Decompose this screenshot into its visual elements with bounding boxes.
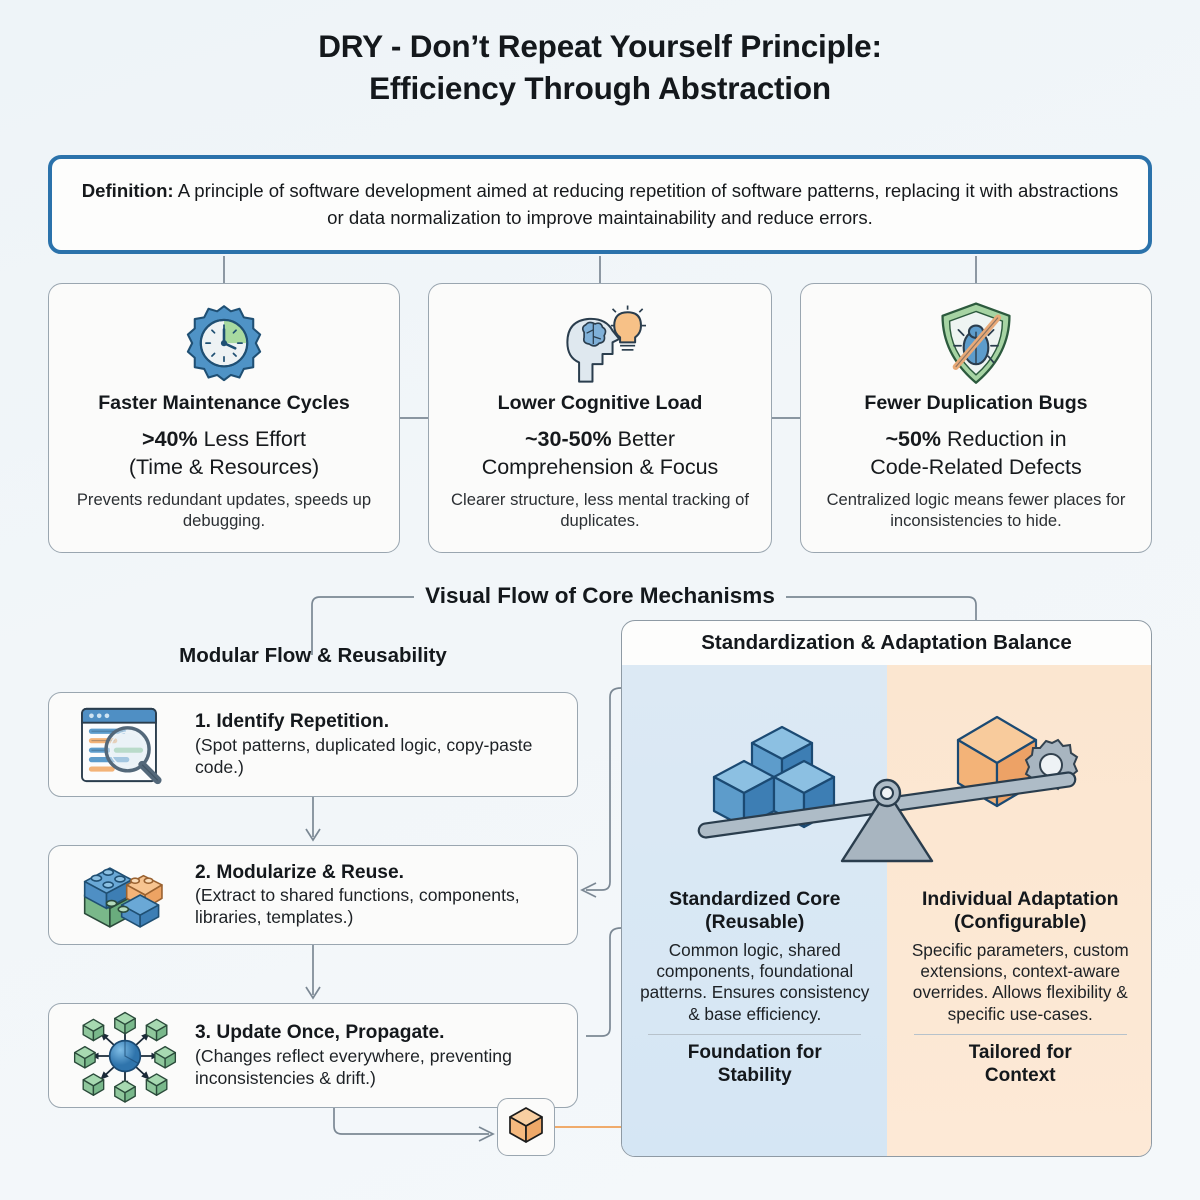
- definition-label: Definition:: [82, 180, 174, 201]
- flow-step-identify-repetition: 1. Identify Repetition. (Spot patterns, …: [48, 692, 578, 797]
- seesaw-balance-icon: [622, 665, 1152, 880]
- definition-text: Definition: A principle of software deve…: [78, 178, 1122, 232]
- flow-step-title: 2. Modularize & Reuse.: [195, 861, 565, 884]
- balance-left-footer: Foundation for Stability: [688, 1042, 822, 1088]
- benefit-stat-value: ~50%: [885, 427, 941, 451]
- benefit-card-heading: Faster Maintenance Cycles: [98, 392, 350, 415]
- balance-left-divider: [648, 1034, 861, 1035]
- benefit-card-desc: Centralized logic means fewer places for…: [815, 489, 1137, 531]
- flow-step-title: 1. Identify Repetition.: [195, 710, 565, 733]
- definition-box: Definition: A principle of software deve…: [48, 155, 1152, 254]
- gear-clock-icon: [181, 300, 267, 388]
- infographic-canvas: DRY - Don’t Repeat Yourself Principle: E…: [0, 0, 1200, 1200]
- benefit-card-fewer-bugs: Fewer Duplication Bugs ~50% Reduction in…: [800, 283, 1152, 553]
- benefit-card-stat: ~30-50% Better Comprehension & Focus: [482, 426, 719, 481]
- lego-bricks-icon: [61, 853, 189, 937]
- benefit-card-desc: Clearer structure, less mental tracking …: [443, 489, 757, 531]
- benefit-card-faster-maintenance: Faster Maintenance Cycles >40% Less Effo…: [48, 283, 400, 553]
- page-title-line-2: Efficiency Through Abstraction: [0, 68, 1200, 110]
- benefit-stat-value: >40%: [142, 427, 198, 451]
- shield-bug-icon: [936, 300, 1016, 388]
- balance-left-body: Common logic, shared components, foundat…: [634, 940, 876, 1025]
- balance-right-body: Specific parameters, custom extensions, …: [900, 940, 1142, 1025]
- brain-lightbulb-icon: [554, 300, 646, 388]
- benefit-stat-rest: Less Effort: [198, 427, 306, 451]
- balance-right-footer-line1: Tailored for: [969, 1042, 1072, 1063]
- flow-step-title: 3. Update Once, Propagate.: [195, 1021, 565, 1044]
- flow-step-desc: (Extract to shared functions, components…: [195, 885, 565, 929]
- balance-right-heading-line1: Individual Adaptation: [922, 888, 1118, 910]
- balance-right-footer-line2: Context: [985, 1065, 1056, 1086]
- hub-propagate-icon: [61, 1006, 189, 1106]
- benefit-stat-line2: Code-Related Defects: [870, 455, 1082, 479]
- orange-cube-node: [497, 1098, 555, 1156]
- balance-panel-title: Standardization & Adaptation Balance: [622, 621, 1151, 665]
- balance-column-individual-adaptation: Individual Adaptation (Configurable) Spe…: [888, 880, 1153, 1156]
- benefit-card-heading: Fewer Duplication Bugs: [864, 392, 1087, 415]
- flow-step-text: 3. Update Once, Propagate. (Changes refl…: [195, 1021, 565, 1089]
- definition-body: A principle of software development aime…: [174, 180, 1119, 228]
- balance-right-heading-line2: (Configurable): [954, 911, 1087, 933]
- page-title: DRY - Don’t Repeat Yourself Principle: E…: [0, 26, 1200, 110]
- balance-column-standardized-core: Standardized Core (Reusable) Common logi…: [622, 880, 888, 1156]
- benefit-card-desc: Prevents redundant updates, speeds up de…: [63, 489, 385, 531]
- flow-step-modularize-reuse: 2. Modularize & Reuse. (Extract to share…: [48, 845, 578, 945]
- benefit-stat-line2: Comprehension & Focus: [482, 455, 719, 479]
- balance-right-footer: Tailored for Context: [969, 1042, 1072, 1088]
- orange-cube-icon: [506, 1105, 546, 1150]
- section-heading: Visual Flow of Core Mechanisms: [0, 583, 1200, 609]
- benefit-stat-line2: (Time & Resources): [129, 455, 319, 479]
- balance-left-heading-line2: (Reusable): [705, 911, 804, 933]
- benefit-card-heading: Lower Cognitive Load: [498, 392, 703, 415]
- flow-step-desc: (Changes reflect everywhere, preventing …: [195, 1046, 565, 1090]
- flow-column-heading: Modular Flow & Reusability: [48, 644, 578, 668]
- flow-step-desc: (Spot patterns, duplicated logic, copy-p…: [195, 735, 565, 779]
- balance-panel-body: Standardized Core (Reusable) Common logi…: [622, 665, 1151, 1156]
- benefit-stat-rest: Reduction in: [941, 427, 1067, 451]
- benefit-card-stat: >40% Less Effort (Time & Resources): [129, 426, 319, 481]
- balance-panel: Standardization & Adaptation Balance: [621, 620, 1152, 1157]
- balance-left-footer-line1: Foundation for: [688, 1042, 822, 1063]
- benefit-card-cognitive-load: Lower Cognitive Load ~30-50% Better Comp…: [428, 283, 772, 553]
- page-title-line-1: DRY - Don’t Repeat Yourself Principle:: [0, 26, 1200, 68]
- balance-left-heading: Standardized Core (Reusable): [669, 888, 840, 935]
- benefit-card-stat: ~50% Reduction in Code-Related Defects: [870, 426, 1082, 481]
- balance-left-footer-line2: Stability: [718, 1065, 792, 1086]
- balance-right-divider: [914, 1034, 1127, 1035]
- code-magnifier-icon: [61, 702, 189, 788]
- flow-step-update-once-propagate: 3. Update Once, Propagate. (Changes refl…: [48, 1003, 578, 1108]
- benefit-stat-rest: Better: [612, 427, 675, 451]
- benefit-stat-value: ~30-50%: [525, 427, 612, 451]
- flow-step-text: 2. Modularize & Reuse. (Extract to share…: [195, 861, 565, 929]
- balance-right-heading: Individual Adaptation (Configurable): [922, 888, 1118, 935]
- balance-columns: Standardized Core (Reusable) Common logi…: [622, 880, 1152, 1156]
- balance-left-heading-line1: Standardized Core: [669, 888, 840, 910]
- flow-step-text: 1. Identify Repetition. (Spot patterns, …: [195, 710, 565, 778]
